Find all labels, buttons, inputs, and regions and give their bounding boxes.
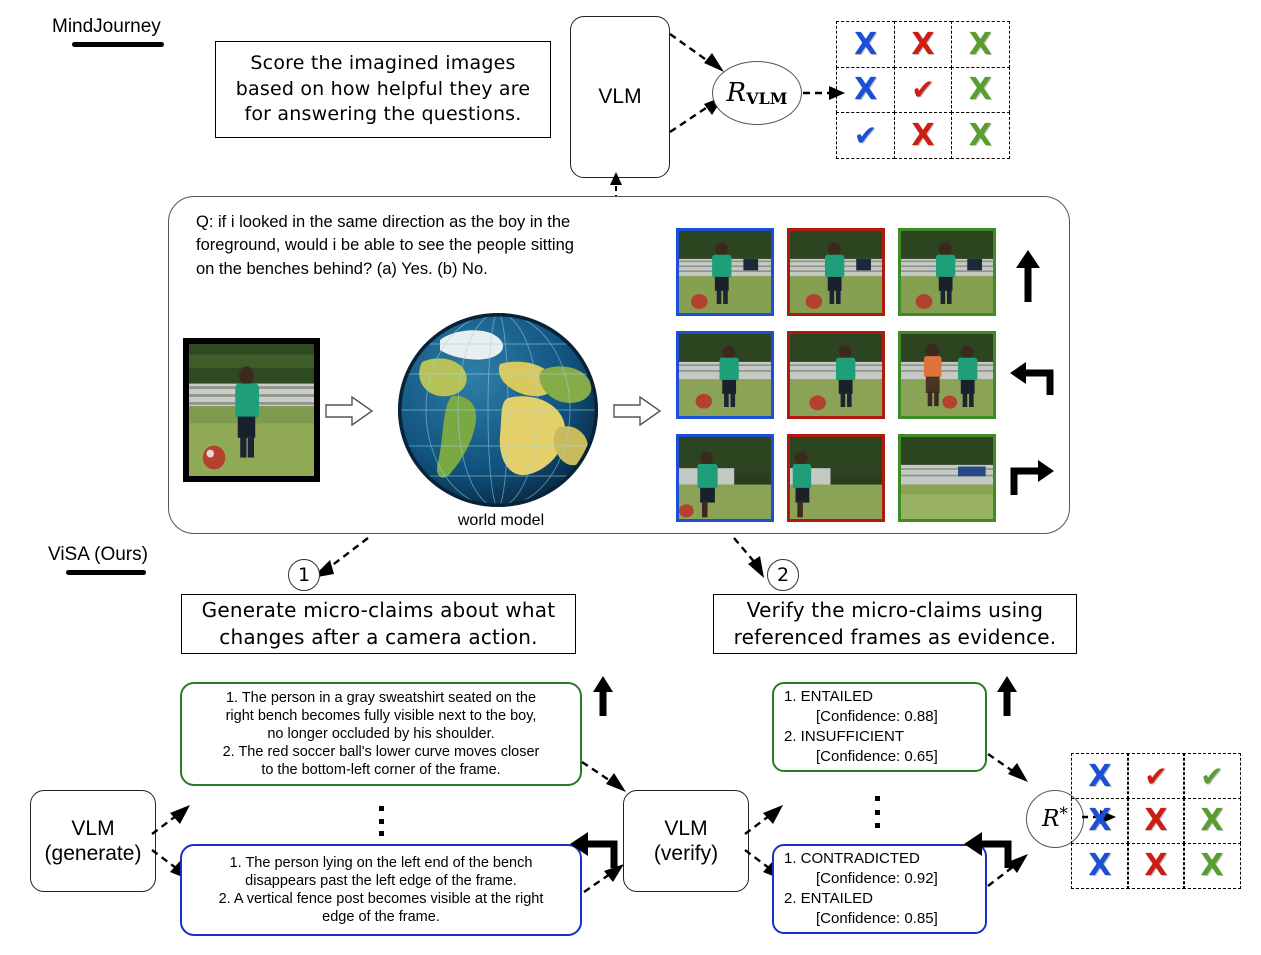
frame-photo bbox=[790, 334, 882, 416]
grid-cell: X bbox=[1127, 798, 1185, 844]
grid-cell: X bbox=[1183, 843, 1241, 889]
mark-glyph: X bbox=[1088, 803, 1111, 838]
prompt-line: Generate micro-claims about what bbox=[202, 598, 556, 622]
prompt-line: for answering the questions. bbox=[244, 103, 521, 125]
mark-glyph: X bbox=[969, 118, 992, 153]
verdict-label: 1. ENTAILED bbox=[784, 687, 977, 707]
mindjourney-prompt-box: Score the imagined images based on how h… bbox=[215, 41, 551, 138]
prompt-line: based on how helpful they are bbox=[236, 78, 530, 100]
vlm-generate-line2: (generate) bbox=[45, 841, 142, 866]
claim-line: 2. A vertical fence post becomes visible… bbox=[190, 890, 572, 908]
mark-glyph: X bbox=[854, 72, 877, 107]
action-arrow-forward-icon bbox=[1015, 250, 1041, 302]
grid-cell: X bbox=[836, 67, 895, 114]
mark-glyph: X bbox=[969, 72, 992, 107]
imagined-frame bbox=[676, 331, 774, 419]
frame-photo bbox=[679, 334, 771, 416]
world-model-caption: world model bbox=[446, 512, 556, 530]
grid-cell: X bbox=[894, 112, 953, 159]
imagined-frame bbox=[676, 434, 774, 522]
imagined-frame bbox=[898, 331, 996, 419]
question-line: foreground, would i be able to see the p… bbox=[196, 236, 574, 254]
vlm-verify-line1: VLM bbox=[664, 816, 707, 841]
claim-line: 1. The person in a gray sweatshirt seate… bbox=[190, 689, 572, 707]
imagined-frame bbox=[676, 228, 774, 316]
verdict-ellipsis-icon bbox=[874, 796, 880, 828]
input-image bbox=[183, 338, 320, 482]
mark-glyph: X bbox=[854, 27, 877, 62]
frame-photo bbox=[901, 231, 993, 313]
claims-ellipsis-icon bbox=[378, 806, 384, 836]
claim-line: to the bottom-left corner of the frame. bbox=[190, 761, 572, 779]
mark-glyph: X bbox=[1144, 803, 1167, 838]
verdict-green: 1. ENTAILED [Confidence: 0.88] 2. INSUFF… bbox=[772, 682, 987, 772]
grid-cell: X bbox=[951, 21, 1010, 68]
reward-superscript: * bbox=[1059, 804, 1068, 824]
reward-vlm-circle: RVLM bbox=[712, 61, 802, 125]
mindjourney-underline bbox=[72, 42, 164, 47]
verdict-label: 1. CONTRADICTED bbox=[784, 849, 977, 869]
grid-cell: X bbox=[1127, 843, 1185, 889]
prompt-line: changes after a camera action. bbox=[219, 625, 537, 649]
verdict-label: 2. INSUFFICIENT bbox=[784, 727, 977, 747]
reward-subscript: VLM bbox=[746, 89, 787, 108]
grid-cell: X bbox=[1071, 753, 1129, 799]
imagined-frame bbox=[787, 228, 885, 316]
vlm-label: VLM bbox=[598, 84, 641, 109]
verdict-confidence: [Confidence: 0.88] bbox=[784, 707, 977, 727]
action-arrow-turn-right-icon bbox=[1008, 455, 1054, 497]
imagined-frame bbox=[787, 331, 885, 419]
frame-photo bbox=[790, 437, 882, 519]
mindjourney-score-grid: X X X X ✔ X ✔ X X bbox=[837, 22, 1009, 158]
arrow-input-to-world-model bbox=[326, 395, 378, 429]
grid-cell: X bbox=[1071, 798, 1129, 844]
claims-action-forward-icon bbox=[592, 676, 616, 716]
verdict-confidence: [Confidence: 0.92] bbox=[784, 869, 977, 889]
mark-glyph: ✔ bbox=[854, 119, 877, 152]
verdict-blue: 1. CONTRADICTED [Confidence: 0.92] 2. EN… bbox=[772, 844, 987, 934]
mark-glyph: X bbox=[1088, 759, 1111, 794]
arrow-world-model-to-frames bbox=[614, 395, 666, 429]
grid-cell: ✔ bbox=[836, 112, 895, 159]
mark-glyph: X bbox=[1088, 848, 1111, 883]
claim-line: edge of the frame. bbox=[190, 908, 572, 926]
verdict-confidence: [Confidence: 0.65] bbox=[784, 747, 977, 767]
prompt-line: Verify the micro-claims using bbox=[747, 598, 1043, 622]
question-line: Q: if i looked in the same direction as … bbox=[196, 213, 570, 231]
visa-score-grid: X ✔ ✔ X X X X X X bbox=[1072, 754, 1240, 888]
step-number: 2 bbox=[777, 564, 789, 586]
mark-glyph: X bbox=[969, 27, 992, 62]
mark-glyph: ✔ bbox=[1200, 760, 1223, 793]
claim-line: 1. The person lying on the left end of t… bbox=[190, 854, 572, 872]
arrow-green-verdict-to-reward bbox=[988, 752, 1044, 792]
question-line: on the benches behind? (a) Yes. (b) No. bbox=[196, 260, 488, 278]
world-model-globe bbox=[392, 310, 604, 510]
claim-line: 2. The red soccer ball's lower curve mov… bbox=[190, 743, 572, 761]
claim-line: disappears past the left edge of the fra… bbox=[190, 872, 572, 890]
prompt-line: referenced frames as evidence. bbox=[734, 625, 1057, 649]
step-number: 1 bbox=[298, 564, 310, 586]
mark-glyph: X bbox=[1200, 803, 1223, 838]
vlm-scorer-box[interactable]: VLM bbox=[570, 16, 670, 178]
grid-cell: X bbox=[836, 21, 895, 68]
grid-cell: X bbox=[1071, 843, 1129, 889]
verdict-label: 2. ENTAILED bbox=[784, 889, 977, 909]
frame-photo bbox=[901, 437, 993, 519]
claim-line: no longer occluded by his shoulder. bbox=[190, 725, 572, 743]
step-1-prompt-box: Generate micro-claims about what changes… bbox=[181, 594, 576, 654]
prompt-line: Score the imagined images bbox=[250, 52, 515, 74]
mark-glyph: X bbox=[1200, 848, 1223, 883]
arrow-generate-to-green-claims bbox=[152, 800, 200, 838]
imagined-frame bbox=[898, 434, 996, 522]
micro-claims-green: 1. The person in a gray sweatshirt seate… bbox=[180, 682, 582, 786]
step-2-prompt-box: Verify the micro-claims using referenced… bbox=[713, 594, 1077, 654]
grid-cell: X bbox=[1183, 798, 1241, 844]
scene-question: Q: if i looked in the same direction as … bbox=[196, 211, 646, 281]
grid-cell: X bbox=[951, 112, 1010, 159]
micro-claims-blue: 1. The person lying on the left end of t… bbox=[180, 844, 582, 936]
action-arrow-turn-left-icon bbox=[1010, 355, 1054, 397]
grid-cell: X bbox=[951, 67, 1010, 114]
mark-glyph: ✔ bbox=[1144, 760, 1167, 793]
imagined-frame bbox=[898, 228, 996, 316]
mark-glyph: ✔ bbox=[911, 73, 934, 106]
grid-cell: X bbox=[894, 21, 953, 68]
frame-photo bbox=[901, 334, 993, 416]
mindjourney-label: MindJourney bbox=[52, 16, 161, 38]
arrow-blue-verdict-to-reward bbox=[988, 848, 1044, 890]
grid-cell: ✔ bbox=[1183, 753, 1241, 799]
verdict-action-forward-icon bbox=[996, 676, 1020, 716]
claim-line: right bench becomes fully visible next t… bbox=[190, 707, 572, 725]
reward-symbol: R bbox=[727, 78, 747, 108]
reward-symbol: R bbox=[1042, 806, 1059, 832]
vlm-generate-box[interactable]: VLM (generate) bbox=[30, 790, 156, 892]
imagined-frame bbox=[787, 434, 885, 522]
vlm-verify-box[interactable]: VLM (verify) bbox=[623, 790, 749, 892]
step-1-badge: 1 bbox=[288, 559, 320, 591]
visa-label: ViSA (Ours) bbox=[48, 544, 148, 566]
mark-glyph: X bbox=[911, 118, 934, 153]
mark-glyph: X bbox=[1144, 848, 1167, 883]
frame-photo bbox=[790, 231, 882, 313]
vlm-generate-line1: VLM bbox=[71, 816, 114, 841]
frame-photo bbox=[679, 437, 771, 519]
frame-photo bbox=[679, 231, 771, 313]
mark-glyph: X bbox=[911, 27, 934, 62]
verdict-confidence: [Confidence: 0.85] bbox=[784, 909, 977, 929]
step-2-badge: 2 bbox=[767, 559, 799, 591]
visa-underline bbox=[66, 570, 146, 575]
grid-cell: ✔ bbox=[1127, 753, 1185, 799]
vlm-verify-line2: (verify) bbox=[654, 841, 718, 866]
arrow-verify-to-green-verdict bbox=[745, 800, 793, 838]
grid-cell: ✔ bbox=[894, 67, 953, 114]
